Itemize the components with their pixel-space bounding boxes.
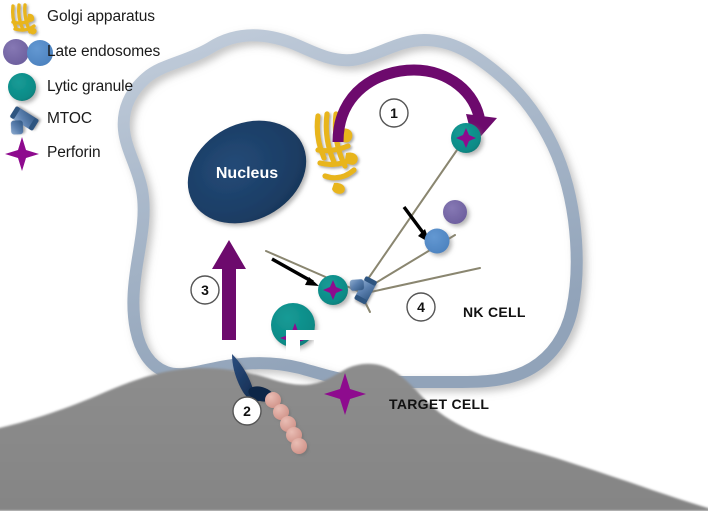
pink-vesicle-5 [291, 438, 307, 454]
legend-label-lytic-granule: Lytic granule [47, 78, 133, 96]
step-badge-3[interactable]: 3 [191, 276, 219, 304]
lytic-granule-mid [318, 275, 348, 305]
target-cell-body [0, 364, 708, 511]
legend-label-late-endosomes: Late endosomes [47, 43, 160, 61]
legend-label-golgi-apparatus: Golgi apparatus [47, 8, 155, 26]
legend-perforin-star [5, 137, 39, 171]
nk-cell-membrane [124, 35, 577, 382]
diagram-canvas: TARGET CELL Nucleus [0, 0, 708, 511]
lytic-granule-top [451, 123, 481, 153]
legend-mtoc-icon [2, 106, 39, 143]
microtubule-4 [366, 268, 480, 293]
legend-label-mtoc: MTOC [47, 110, 92, 128]
nucleus-label: Nucleus [216, 165, 278, 182]
nk-cell-killing-diagram: TARGET CELL Nucleus [0, 0, 708, 511]
step-badge-1[interactable]: 1 [380, 99, 408, 127]
step-3-arrowhead [212, 240, 246, 269]
late-endosome-blue [425, 229, 450, 254]
nk-cell-outline [124, 35, 577, 382]
legend-icons [2, 5, 53, 171]
nk-cell-label: NK CELL [463, 304, 526, 320]
step-badge-1-number: 1 [390, 105, 398, 121]
legend-label-perforin: Perforin [47, 144, 100, 162]
legend-endosome-purple [3, 39, 29, 65]
target-cell-label: TARGET CELL [389, 396, 489, 412]
legend-late-endosomes-icon [3, 39, 53, 66]
target-cell: TARGET CELL [0, 364, 708, 511]
legend-lytic-granule-body [8, 73, 36, 101]
nucleus: Nucleus [170, 101, 325, 244]
step-badge-3-number: 3 [201, 282, 209, 298]
legend-perforin-icon [5, 137, 39, 171]
step-badge-2-number: 2 [243, 403, 251, 419]
step-badge-4[interactable]: 4 [407, 293, 435, 321]
legend-golgi-apparatus-icon [13, 5, 37, 34]
step-badge-2[interactable]: 2 [233, 397, 261, 425]
legend-lytic-granule-icon [8, 73, 36, 101]
transport-arrows [272, 207, 430, 286]
step-badge-4-number: 4 [417, 299, 425, 315]
late-endosome-purple [443, 200, 467, 224]
late-endosomes [425, 200, 468, 254]
